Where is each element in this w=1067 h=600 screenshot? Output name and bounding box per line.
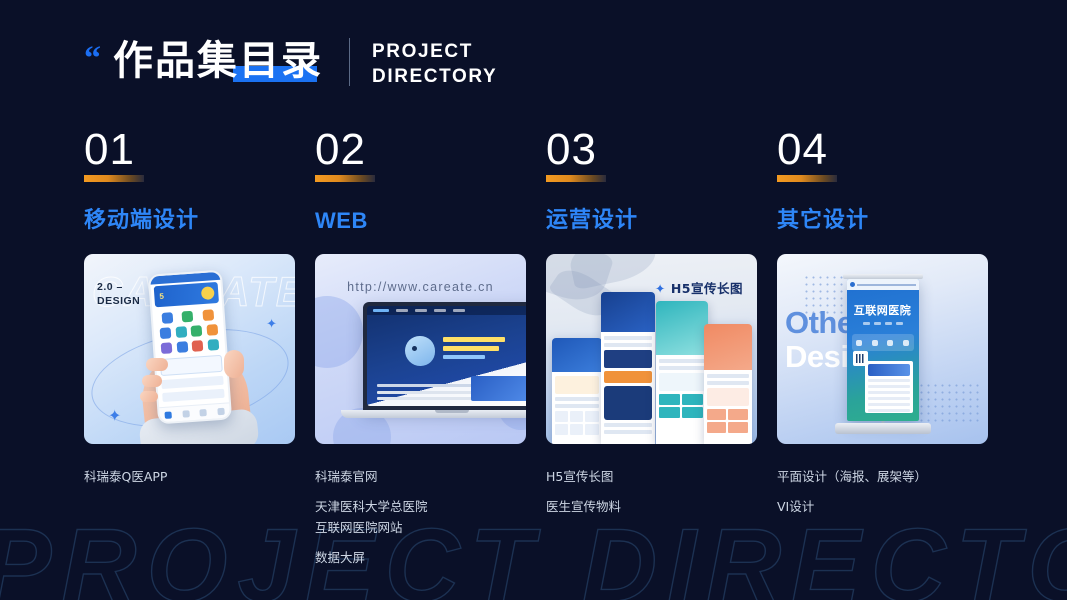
app-icon <box>206 324 218 336</box>
h5-page <box>704 324 752 444</box>
nav-item <box>434 309 446 312</box>
banner-base <box>835 423 931 434</box>
column-category-03: 运营设计 <box>546 208 757 234</box>
nav-item <box>453 309 465 312</box>
tabbar-icon <box>217 407 224 414</box>
phone-section-bar <box>161 376 223 389</box>
dolphin-mascot-icon <box>405 336 435 366</box>
caption-line: 科瑞泰Q医APP <box>84 466 295 487</box>
column-category-02: WEB <box>315 208 526 234</box>
h5-block <box>604 371 652 383</box>
column-captions-01: 科瑞泰Q医APP <box>84 466 295 487</box>
hospital-logo-icon <box>850 282 855 287</box>
h5-page <box>552 338 602 444</box>
column-captions-02: 科瑞泰官网 天津医科大学总医院 互联网医院网站 数据大屏 <box>315 466 526 568</box>
preview-header <box>868 364 910 376</box>
h5-long-pages-thumbnail[interactable]: ✦H5宣传长图 <box>546 254 757 444</box>
app-icon <box>161 312 173 324</box>
thumbnail-label: 2.0 – DESIGN <box>97 280 140 308</box>
slogan-line <box>443 346 499 351</box>
app-icon <box>160 327 172 339</box>
column-number-02: 02 <box>315 128 526 172</box>
h5-block <box>604 350 652 368</box>
h5-block <box>604 386 652 420</box>
project-columns: 01 移动端设计 CAREATE 2.0 – DESIGN ✦ ✦ 5 <box>84 128 988 568</box>
project-column-01[interactable]: 01 移动端设计 CAREATE 2.0 – DESIGN ✦ ✦ 5 <box>84 128 295 568</box>
h5-block <box>659 373 705 391</box>
laptop-screen <box>367 306 526 406</box>
h5-page <box>601 292 655 444</box>
h5-page-header <box>656 301 708 355</box>
nav-item <box>415 309 427 312</box>
app-icon <box>176 341 188 353</box>
banner-screen-preview <box>865 361 913 413</box>
page-header: “ 作品集目录 PROJECT DIRECTORY <box>84 36 497 89</box>
finger-shape <box>140 391 158 402</box>
project-column-03[interactable]: 03 运营设计 ✦H5宣传长图 <box>546 128 757 568</box>
banner-feature-row <box>852 334 914 351</box>
app-icon <box>161 342 173 354</box>
column-captions-04: 平面设计（海报、展架等） VI设计 <box>777 466 988 517</box>
phone-promo-card <box>160 355 223 376</box>
h5-page-header <box>552 338 602 372</box>
phone-section-bar <box>162 389 224 402</box>
laptop-lid <box>363 302 526 410</box>
project-column-02[interactable]: 02 WEB http://www.careate.cn <box>315 128 526 568</box>
h5-page-header <box>704 324 752 370</box>
column-number-03: 03 <box>546 128 757 172</box>
column-number-underline <box>84 175 144 182</box>
dot-pattern <box>918 382 980 422</box>
h5-page-header <box>601 292 655 332</box>
blob-decoration <box>315 296 363 368</box>
website-url-label: http://www.careate.cn <box>315 280 526 294</box>
hero-slogan <box>443 337 505 363</box>
app-icon <box>191 325 203 337</box>
rollup-banner-thumbnail[interactable]: Other Design 互联网医院 <box>777 254 988 444</box>
h5-page-body <box>601 332 655 444</box>
mobile-app-phone-in-hand-thumbnail[interactable]: CAREATE 2.0 – DESIGN ✦ ✦ 5 <box>84 254 295 444</box>
finger-shape <box>142 375 162 387</box>
column-number-underline <box>546 175 606 182</box>
h5-page-body <box>552 372 602 444</box>
caption-line: 互联网医院网站 <box>315 517 526 538</box>
h5-grid <box>659 394 705 418</box>
h5-label: ✦H5宣传长图 <box>655 278 743 297</box>
page-title-en-line2: DIRECTORY <box>372 64 497 89</box>
app-icon <box>192 340 204 352</box>
slogan-line <box>443 355 485 359</box>
sparkle-icon: ✦ <box>655 281 666 296</box>
quote-mark-icon: “ <box>84 42 101 76</box>
app-icon <box>207 339 219 351</box>
caption-line: 医生宣传物料 <box>546 496 757 517</box>
app-icon <box>182 311 194 323</box>
website-navbar <box>367 306 526 315</box>
content-line <box>377 384 481 387</box>
banner-title: 互联网医院 <box>847 302 919 318</box>
tabbar-icon <box>165 411 172 418</box>
thumb-shape <box>224 350 244 378</box>
column-category-04: 其它设计 <box>777 208 988 234</box>
h5-grid <box>707 409 749 433</box>
laptop-website-thumbnail[interactable]: http://www.careate.cn <box>315 254 526 444</box>
sparkle-icon: ✦ <box>108 406 121 426</box>
nav-logo <box>373 309 389 312</box>
sparkle-icon: ✦ <box>266 316 277 332</box>
h5-block <box>555 376 599 394</box>
caption-line: VI设计 <box>777 496 988 517</box>
phone-mockup: 5 <box>148 270 232 425</box>
page-title-en-line1: PROJECT <box>372 39 497 64</box>
column-captions-03: H5宣传长图 医生宣传物料 <box>546 466 757 517</box>
column-number-underline <box>777 175 837 182</box>
caption-line: 数据大屏 <box>315 547 526 568</box>
app-icon <box>175 326 187 338</box>
tabbar-icon <box>182 410 189 417</box>
column-number-01: 01 <box>84 128 295 172</box>
website-feature-card <box>471 376 526 401</box>
tabbar-icon <box>200 408 207 415</box>
banner-top-rail <box>843 274 923 279</box>
page-title-cn: 作品集目录 <box>113 36 327 86</box>
column-number-underline <box>315 175 375 182</box>
h5-block <box>707 388 749 406</box>
caption-line: 天津医科大学总医院 <box>315 496 526 517</box>
caption-line: 科瑞泰官网 <box>315 466 526 487</box>
nav-item <box>396 309 408 312</box>
h5-page-body <box>704 370 752 444</box>
caption-line: H5宣传长图 <box>546 466 757 487</box>
slogan-line <box>443 337 505 342</box>
phone-tabbar <box>159 402 230 422</box>
phone-banner: 5 <box>154 282 219 307</box>
h5-page-body <box>656 355 708 444</box>
laptop-base <box>341 410 526 418</box>
app-icon <box>203 309 215 321</box>
banner-subtitle <box>847 322 919 325</box>
column-number-04: 04 <box>777 128 988 172</box>
banner-hospital-header <box>847 279 919 290</box>
project-column-04[interactable]: 04 其它设计 Other Design 互联网医院 <box>777 128 988 568</box>
finger-shape <box>146 358 168 371</box>
title-divider <box>349 38 350 86</box>
rollup-banner-graphic: 互联网医院 <box>847 279 919 421</box>
caption-line: 平面设计（海报、展架等） <box>777 466 988 487</box>
column-category-01: 移动端设计 <box>84 208 295 234</box>
h5-page <box>656 301 708 444</box>
page-title-en: PROJECT DIRECTORY <box>372 39 497 89</box>
h5-grid <box>555 411 599 435</box>
